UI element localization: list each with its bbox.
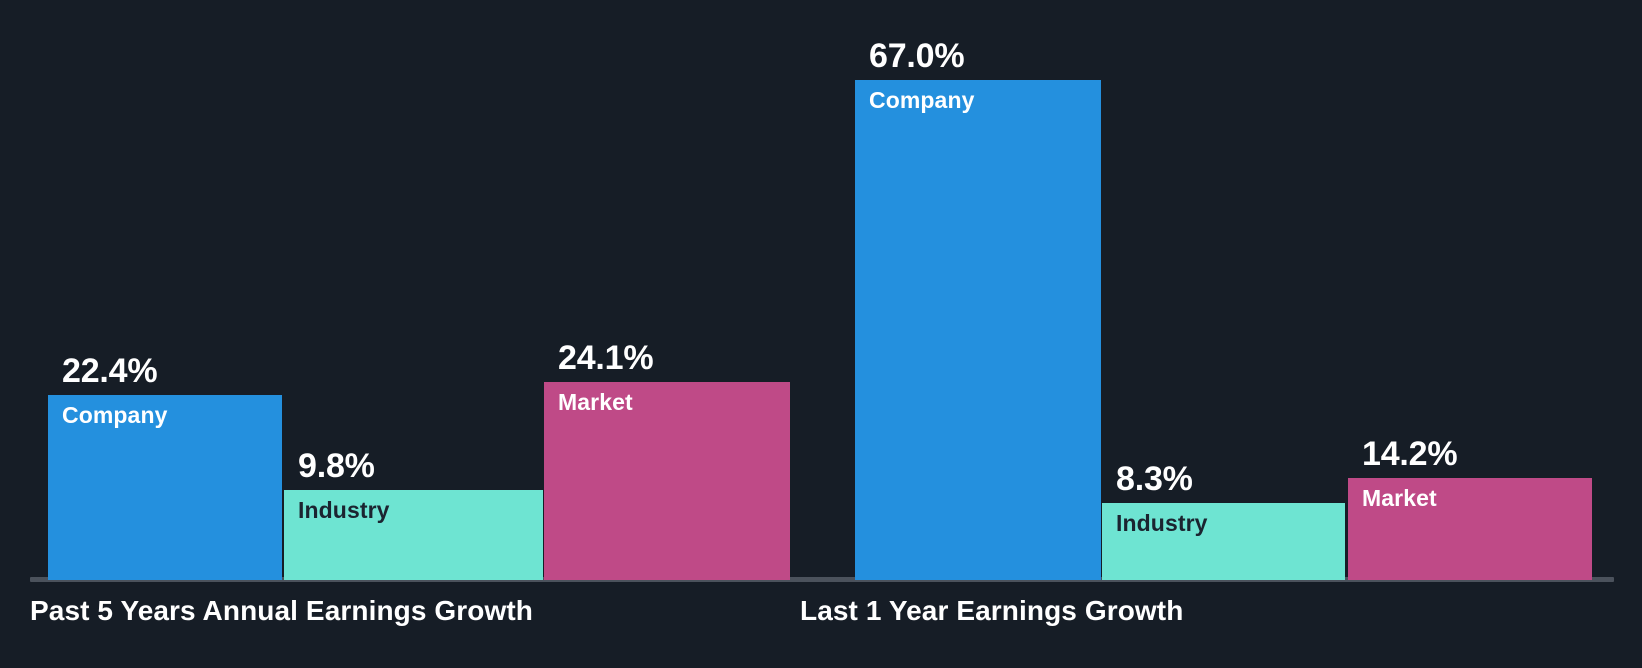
bar-rect: Company (855, 80, 1101, 580)
bar-rect: Market (544, 382, 790, 580)
bar-value-label: 67.0% (869, 39, 964, 73)
panel-title: Past 5 Years Annual Earnings Growth (30, 597, 533, 625)
bar-industry[interactable]: 8.3% Industry (1102, 503, 1345, 580)
bar-value-label: 14.2% (1362, 437, 1457, 471)
panel-title: Last 1 Year Earnings Growth (800, 597, 1183, 625)
bar-category-label: Company (869, 89, 975, 112)
earnings-growth-chart: 22.4% Company 9.8% Industry 24.1% Market… (0, 0, 1642, 668)
bar-rect: Industry (284, 490, 543, 580)
bar-rect: Industry (1102, 503, 1345, 580)
bar-value-label: 8.3% (1116, 462, 1193, 496)
bar-value-label: 22.4% (62, 354, 157, 388)
bar-rect: Company (48, 395, 282, 580)
bar-category-label: Market (558, 391, 633, 414)
bar-rect: Market (1348, 478, 1592, 580)
bar-value-label: 9.8% (298, 449, 375, 483)
bar-industry[interactable]: 9.8% Industry (284, 490, 543, 580)
bar-market[interactable]: 14.2% Market (1348, 478, 1592, 580)
bar-category-label: Market (1362, 487, 1437, 510)
bar-company[interactable]: 67.0% Company (855, 80, 1101, 580)
bar-category-label: Company (62, 404, 168, 427)
bar-market[interactable]: 24.1% Market (544, 382, 790, 580)
bar-value-label: 24.1% (558, 341, 653, 375)
bar-company[interactable]: 22.4% Company (48, 395, 282, 580)
plot-area-last-1-year: 67.0% Company 8.3% Industry 14.2% Market… (800, 0, 1642, 668)
bar-category-label: Industry (298, 499, 390, 522)
plot-area-past-5-years: 22.4% Company 9.8% Industry 24.1% Market… (0, 0, 820, 668)
chart-panel-past-5-years: 22.4% Company 9.8% Industry 24.1% Market… (0, 0, 820, 668)
chart-panel-last-1-year: 67.0% Company 8.3% Industry 14.2% Market… (800, 0, 1642, 668)
bar-category-label: Industry (1116, 512, 1208, 535)
